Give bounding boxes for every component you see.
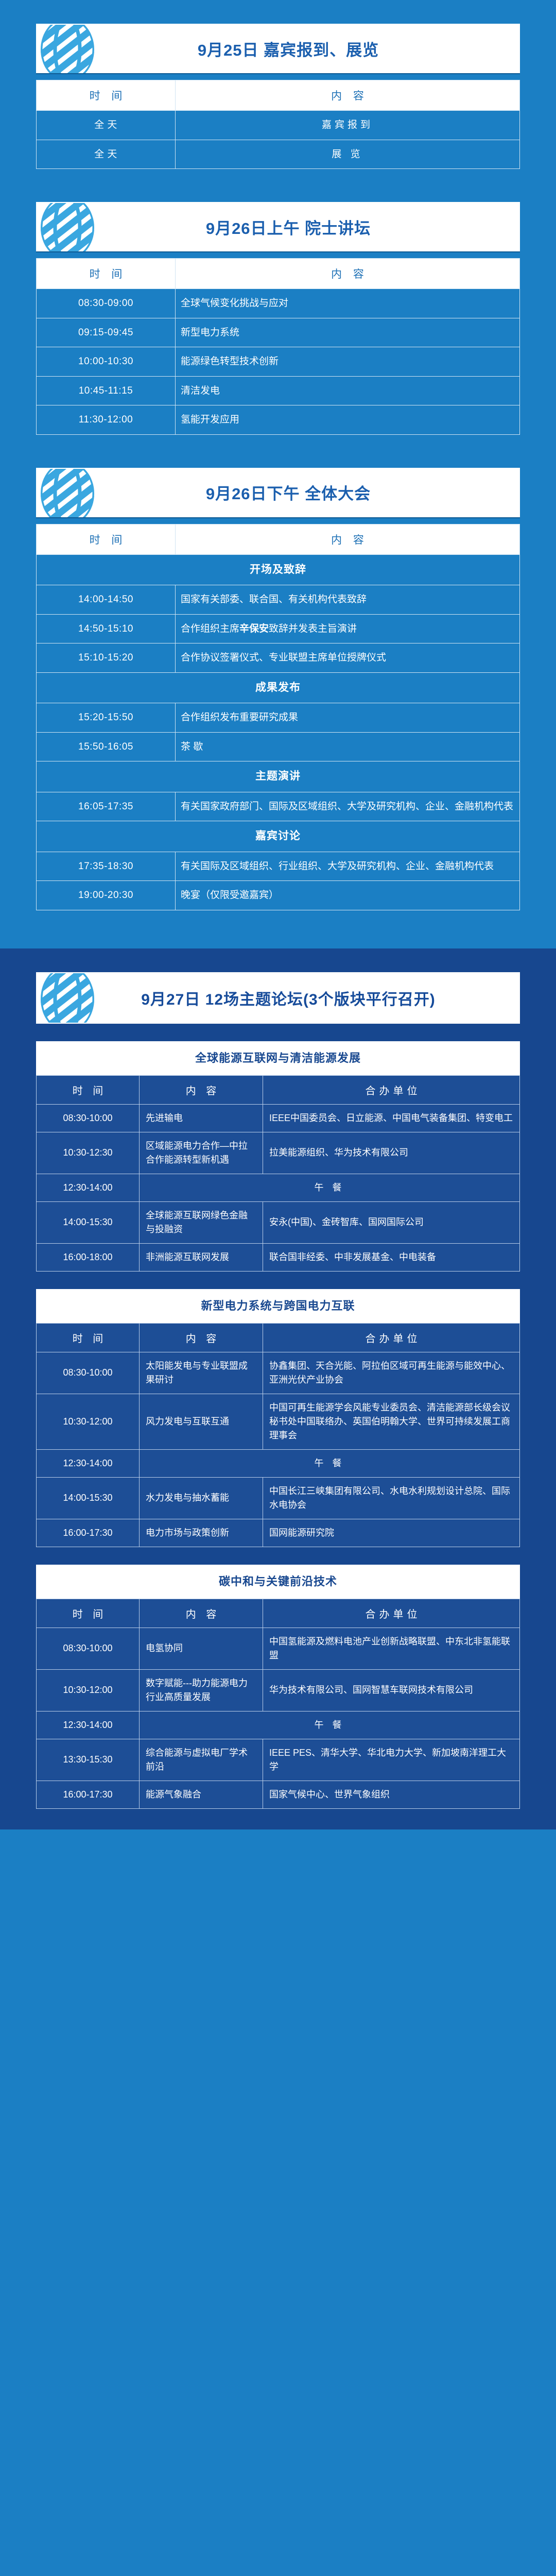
cell-topic: 区域能源电力合作—中拉合作能源转型新机遇 bbox=[140, 1132, 263, 1174]
cell-content: 晚宴（仅限受邀嘉宾） bbox=[176, 881, 520, 910]
cell-time: 12:30-14:00 bbox=[37, 1711, 140, 1739]
col-time: 时 间 bbox=[37, 1075, 140, 1104]
table-header-row: 时 间 内 容 bbox=[37, 259, 520, 289]
cell-cohost: 中国可再生能源学会风能专业委员会、清洁能源部长级会议秘书处中国联络办、英国伯明翰… bbox=[263, 1394, 520, 1449]
section-title: 9月27日 12场主题论坛(3个版块平行召开) bbox=[120, 987, 435, 1009]
banner-rule bbox=[36, 251, 520, 258]
table-row: 16:00-18:00 非洲能源互联网发展 联合国非经委、中非发展基金、中电装备 bbox=[37, 1243, 520, 1271]
table-row: 14:00-15:30 全球能源互联网绿色金融与投融资 安永(中国)、金砖智库、… bbox=[37, 1201, 520, 1243]
cell-topic: 先进输电 bbox=[140, 1104, 263, 1132]
globe-stripes-icon bbox=[39, 973, 100, 1023]
cell-content: 展 览 bbox=[176, 140, 520, 169]
section-title: 9月25日 嘉宾报到、展览 bbox=[177, 37, 379, 60]
cell-content: 嘉宾报到 bbox=[176, 111, 520, 140]
table-row: 09:15-09:45 新型电力系统 bbox=[37, 318, 520, 347]
cell-time: 10:00-10:30 bbox=[37, 347, 176, 377]
cell-time: 10:30-12:00 bbox=[37, 1394, 140, 1449]
group-label: 主题演讲 bbox=[37, 761, 520, 792]
cell-time: 12:30-14:00 bbox=[37, 1174, 140, 1201]
cell-time: 08:30-10:00 bbox=[37, 1628, 140, 1669]
col-content: 内 容 bbox=[176, 524, 520, 554]
cell-content: 合作协议签署仪式、专业联盟主席单位授牌仪式 bbox=[176, 643, 520, 673]
table-row: 08:30-10:00 先进输电 IEEE中国委员会、日立能源、中国电气装备集团… bbox=[37, 1104, 520, 1132]
cell-topic: 全球能源互联网绿色金融与投融资 bbox=[140, 1201, 263, 1243]
cell-time: 14:50-15:10 bbox=[37, 614, 176, 643]
cell-time: 17:35-18:30 bbox=[37, 852, 176, 881]
forum-table: 时 间 内 容 合办单位 08:30-10:00 电氢协同 中国氢能源及燃料电池… bbox=[36, 1599, 520, 1809]
cell-time: 08:30-10:00 bbox=[37, 1104, 140, 1132]
cell-cohost: 华为技术有限公司、国网智慧车联网技术有限公司 bbox=[263, 1669, 520, 1711]
table-row: 17:35-18:30 有关国际及区域组织、行业组织、大学及研究机构、企业、金融… bbox=[37, 852, 520, 881]
table-row: 15:10-15:20 合作协议签署仪式、专业联盟主席单位授牌仪式 bbox=[37, 643, 520, 673]
cell-content: 合作组织主席辛保安致辞并发表主旨演讲 bbox=[176, 614, 520, 643]
section-banner: 9月27日 12场主题论坛(3个版块平行召开) bbox=[36, 972, 520, 1024]
cell-time: 16:00-17:30 bbox=[37, 1781, 140, 1808]
cell-time: 10:45-11:15 bbox=[37, 376, 176, 405]
cell-content: 有关国际及区域组织、行业组织、大学及研究机构、企业、金融机构代表 bbox=[176, 852, 520, 881]
cell-topic: 风力发电与互联互通 bbox=[140, 1394, 263, 1449]
table-header-row: 时 间 内 容 合办单位 bbox=[37, 1323, 520, 1352]
table-row: 10:30-12:30 区域能源电力合作—中拉合作能源转型新机遇 拉美能源组织、… bbox=[37, 1132, 520, 1174]
cell-content: 全球气候变化挑战与应对 bbox=[176, 289, 520, 318]
cell-cohost: IEEE中国委员会、日立能源、中国电气装备集团、特变电工 bbox=[263, 1104, 520, 1132]
cell-content: 合作组织发布重要研究成果 bbox=[176, 703, 520, 733]
cell-time: 11:30-12:00 bbox=[37, 405, 176, 435]
col-cohost: 合办单位 bbox=[263, 1599, 520, 1628]
section-day-0926-pm: 9月26日下午 全体大会 时 间 内 容 开场及致辞 14:00-14:50 bbox=[36, 468, 520, 910]
forum-block: 碳中和与关键前沿技术 时 间 内 容 合办单位 08:30-10:00 电氢协同 bbox=[36, 1565, 520, 1809]
section-day-0927: 9月27日 12场主题论坛(3个版块平行召开) 全球能源互联网与清洁能源发展 时… bbox=[36, 972, 520, 1809]
table-row: 16:00-17:30 电力市场与政策创新 国网能源研究院 bbox=[37, 1519, 520, 1547]
table-row-lunch: 12:30-14:00 午 餐 bbox=[37, 1449, 520, 1477]
table-row: 13:30-15:30 综合能源与虚拟电厂学术前沿 IEEE PES、清华大学、… bbox=[37, 1739, 520, 1781]
cell-time: 16:05-17:35 bbox=[37, 792, 176, 821]
col-time: 时 间 bbox=[37, 80, 176, 111]
cell-content: 氢能开发应用 bbox=[176, 405, 520, 435]
table-row-lunch: 12:30-14:00 午 餐 bbox=[37, 1711, 520, 1739]
section-day-0926-am: 9月26日上午 院士讲坛 时 间 内 容 08:30-09:00 全球气候变化挑… bbox=[36, 202, 520, 435]
col-time: 时 间 bbox=[37, 524, 176, 554]
table-subheader-row: 开场及致辞 bbox=[37, 554, 520, 585]
cell-cohost: 拉美能源组织、华为技术有限公司 bbox=[263, 1132, 520, 1174]
banner-rule bbox=[36, 73, 520, 80]
forum-block: 新型电力系统与跨国电力互联 时 间 内 容 合办单位 08:30-10:00 太… bbox=[36, 1289, 520, 1547]
agenda-table: 时 间 内 容 开场及致辞 14:00-14:50 国家有关部委、联合国、有关机… bbox=[36, 524, 520, 910]
table-row: 14:00-14:50 国家有关部委、联合国、有关机构代表致辞 bbox=[37, 585, 520, 615]
col-time: 时 间 bbox=[37, 259, 176, 289]
cell-time: 08:30-10:00 bbox=[37, 1352, 140, 1394]
col-time: 时 间 bbox=[37, 1323, 140, 1352]
section-banner: 9月26日上午 院士讲坛 bbox=[36, 202, 520, 251]
table-row: 08:30-10:00 太阳能发电与专业联盟成果研讨 协鑫集团、天合光能、阿拉伯… bbox=[37, 1352, 520, 1394]
cell-time: 10:30-12:30 bbox=[37, 1132, 140, 1174]
cell-time: 14:00-15:30 bbox=[37, 1201, 140, 1243]
cell-content: 有关国家政府部门、国际及区域组织、大学及研究机构、企业、金融机构代表 bbox=[176, 792, 520, 821]
table-subheader-row: 成果发布 bbox=[37, 672, 520, 703]
navy-region: 9月27日 12场主题论坛(3个版块平行召开) 全球能源互联网与清洁能源发展 时… bbox=[0, 948, 556, 1829]
cell-content: 能源绿色转型技术创新 bbox=[176, 347, 520, 377]
cell-topic: 电氢协同 bbox=[140, 1628, 263, 1669]
cell-cohost: 中国氢能源及燃料电池产业创新战略联盟、中东北非氢能联盟 bbox=[263, 1628, 520, 1669]
cell-topic: 午 餐 bbox=[140, 1174, 520, 1201]
cell-time: 12:30-14:00 bbox=[37, 1449, 140, 1477]
table-header-row: 时 间 内 容 bbox=[37, 80, 520, 111]
table-row: 11:30-12:00 氢能开发应用 bbox=[37, 405, 520, 435]
section-title: 9月26日下午 全体大会 bbox=[185, 481, 371, 504]
table-header-row: 时 间 内 容 合办单位 bbox=[37, 1075, 520, 1104]
globe-stripes-icon bbox=[39, 203, 100, 251]
forum-name: 新型电力系统与跨国电力互联 bbox=[36, 1289, 520, 1323]
section-day-0925: 9月25日 嘉宾报到、展览 时 间 内 容 全 天 嘉宾报到 全 bbox=[36, 24, 520, 169]
cell-cohost: 协鑫集团、天合光能、阿拉伯区域可再生能源与能效中心、亚洲光伏产业协会 bbox=[263, 1352, 520, 1394]
agenda-table: 时 间 内 容 全 天 嘉宾报到 全 天 展 览 bbox=[36, 80, 520, 169]
cell-content: 茶 歇 bbox=[176, 732, 520, 761]
cell-cohost: IEEE PES、清华大学、华北电力大学、新加坡南洋理工大学 bbox=[263, 1739, 520, 1781]
col-cohost: 合办单位 bbox=[263, 1075, 520, 1104]
cell-topic: 非洲能源互联网发展 bbox=[140, 1243, 263, 1271]
cell-cohost: 国家气候中心、世界气象组织 bbox=[263, 1781, 520, 1808]
cell-time: 08:30-09:00 bbox=[37, 289, 176, 318]
cell-cohost: 联合国非经委、中非发展基金、中电装备 bbox=[263, 1243, 520, 1271]
col-time: 时 间 bbox=[37, 1599, 140, 1628]
cell-time: 09:15-09:45 bbox=[37, 318, 176, 347]
group-label: 嘉宾讨论 bbox=[37, 821, 520, 852]
col-content: 内 容 bbox=[140, 1323, 263, 1352]
col-content: 内 容 bbox=[140, 1599, 263, 1628]
banner-rule bbox=[36, 517, 520, 524]
table-header-row: 时 间 内 容 合办单位 bbox=[37, 1599, 520, 1628]
table-row: 16:00-17:30 能源气象融合 国家气候中心、世界气象组织 bbox=[37, 1781, 520, 1808]
cell-content: 新型电力系统 bbox=[176, 318, 520, 347]
table-row: 全 天 展 览 bbox=[37, 140, 520, 169]
cell-topic: 数字赋能---助力能源电力行业高质量发展 bbox=[140, 1669, 263, 1711]
table-row: 15:20-15:50 合作组织发布重要研究成果 bbox=[37, 703, 520, 733]
table-header-row: 时 间 内 容 bbox=[37, 524, 520, 554]
col-content: 内 容 bbox=[176, 80, 520, 111]
cell-cohost: 中国长江三峡集团有限公司、水电水利规划设计总院、国际水电协会 bbox=[263, 1477, 520, 1519]
table-row: 全 天 嘉宾报到 bbox=[37, 111, 520, 140]
forum-block: 全球能源互联网与清洁能源发展 时 间 内 容 合办单位 08:30-10:00 … bbox=[36, 1041, 520, 1272]
section-banner: 9月25日 嘉宾报到、展览 bbox=[36, 24, 520, 73]
cell-content: 国家有关部委、联合国、有关机构代表致辞 bbox=[176, 585, 520, 615]
col-content: 内 容 bbox=[176, 259, 520, 289]
table-row: 14:00-15:30 水力发电与抽水蓄能 中国长江三峡集团有限公司、水电水利规… bbox=[37, 1477, 520, 1519]
section-banner: 9月26日下午 全体大会 bbox=[36, 468, 520, 517]
cell-content: 清洁发电 bbox=[176, 376, 520, 405]
cell-topic: 午 餐 bbox=[140, 1449, 520, 1477]
cell-time: 15:20-15:50 bbox=[37, 703, 176, 733]
speaker-name: 辛保安 bbox=[239, 623, 269, 634]
forum-name: 全球能源互联网与清洁能源发展 bbox=[36, 1041, 520, 1075]
table-row-lunch: 12:30-14:00 午 餐 bbox=[37, 1174, 520, 1201]
cell-time: 16:00-17:30 bbox=[37, 1519, 140, 1547]
cell-time: 15:50-16:05 bbox=[37, 732, 176, 761]
cell-topic: 综合能源与虚拟电厂学术前沿 bbox=[140, 1739, 263, 1781]
table-row: 15:50-16:05 茶 歇 bbox=[37, 732, 520, 761]
col-content: 内 容 bbox=[140, 1075, 263, 1104]
table-subheader-row: 嘉宾讨论 bbox=[37, 821, 520, 852]
cell-time: 19:00-20:30 bbox=[37, 881, 176, 910]
group-label: 开场及致辞 bbox=[37, 554, 520, 585]
globe-stripes-icon bbox=[39, 25, 100, 73]
table-row: 16:05-17:35 有关国家政府部门、国际及区域组织、大学及研究机构、企业、… bbox=[37, 792, 520, 821]
cell-time: 10:30-12:00 bbox=[37, 1669, 140, 1711]
globe-stripes-icon bbox=[39, 469, 100, 517]
cell-time: 14:00-15:30 bbox=[37, 1477, 140, 1519]
table-row: 08:30-09:00 全球气候变化挑战与应对 bbox=[37, 289, 520, 318]
forum-table: 时 间 内 容 合办单位 08:30-10:00 先进输电 IEEE中国委员会、… bbox=[36, 1075, 520, 1272]
cell-topic: 水力发电与抽水蓄能 bbox=[140, 1477, 263, 1519]
agenda-page: 9月25日 嘉宾报到、展览 时 间 内 容 全 天 嘉宾报到 全 bbox=[0, 0, 556, 1829]
cell-time: 16:00-18:00 bbox=[37, 1243, 140, 1271]
col-cohost: 合办单位 bbox=[263, 1323, 520, 1352]
group-label: 成果发布 bbox=[37, 672, 520, 703]
cell-cohost: 安永(中国)、金砖智库、国网国际公司 bbox=[263, 1201, 520, 1243]
agenda-table: 时 间 内 容 08:30-09:00 全球气候变化挑战与应对 09:15-09… bbox=[36, 258, 520, 435]
cell-time: 14:00-14:50 bbox=[37, 585, 176, 615]
table-row: 10:30-12:00 数字赋能---助力能源电力行业高质量发展 华为技术有限公… bbox=[37, 1669, 520, 1711]
table-row: 08:30-10:00 电氢协同 中国氢能源及燃料电池产业创新战略联盟、中东北非… bbox=[37, 1628, 520, 1669]
cell-topic: 太阳能发电与专业联盟成果研讨 bbox=[140, 1352, 263, 1394]
forum-table: 时 间 内 容 合办单位 08:30-10:00 太阳能发电与专业联盟成果研讨 … bbox=[36, 1323, 520, 1547]
blue-region: 9月25日 嘉宾报到、展览 时 间 内 容 全 天 嘉宾报到 全 bbox=[0, 0, 556, 948]
forum-name: 碳中和与关键前沿技术 bbox=[36, 1565, 520, 1599]
cell-time: 全 天 bbox=[37, 140, 176, 169]
table-subheader-row: 主题演讲 bbox=[37, 761, 520, 792]
cell-topic: 电力市场与政策创新 bbox=[140, 1519, 263, 1547]
cell-topic: 能源气象融合 bbox=[140, 1781, 263, 1808]
cell-topic: 午 餐 bbox=[140, 1711, 520, 1739]
cell-cohost: 国网能源研究院 bbox=[263, 1519, 520, 1547]
table-row: 10:00-10:30 能源绿色转型技术创新 bbox=[37, 347, 520, 377]
section-title: 9月26日上午 院士讲坛 bbox=[185, 215, 371, 239]
table-row: 10:45-11:15 清洁发电 bbox=[37, 376, 520, 405]
cell-time: 15:10-15:20 bbox=[37, 643, 176, 673]
cell-time: 13:30-15:30 bbox=[37, 1739, 140, 1781]
table-row: 14:50-15:10 合作组织主席辛保安致辞并发表主旨演讲 bbox=[37, 614, 520, 643]
cell-time: 全 天 bbox=[37, 111, 176, 140]
table-row: 10:30-12:00 风力发电与互联互通 中国可再生能源学会风能专业委员会、清… bbox=[37, 1394, 520, 1449]
table-row: 19:00-20:30 晚宴（仅限受邀嘉宾） bbox=[37, 881, 520, 910]
